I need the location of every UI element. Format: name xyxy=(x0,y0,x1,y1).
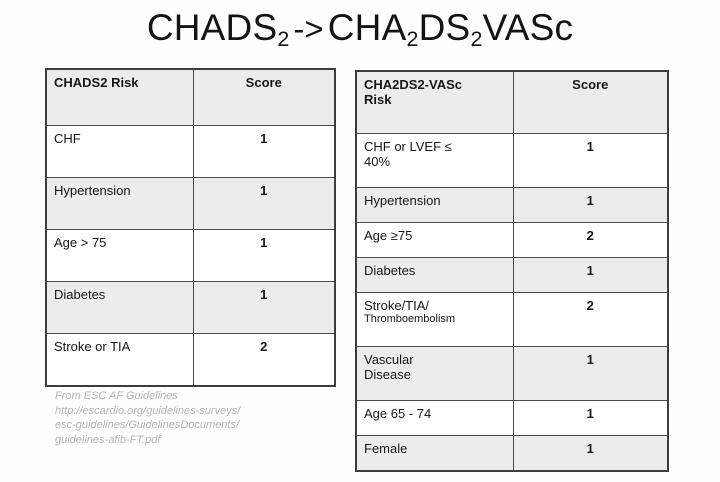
risk-score: 2 xyxy=(513,223,668,258)
page-title: CHADS2->CHA2DS2VASc xyxy=(0,4,720,53)
citation-line-3: esc-guidelines/GuidelinesDocuments/ xyxy=(55,418,315,433)
risk-label-line1: Stroke/TIA/ xyxy=(364,298,506,313)
risk-label: Diabetes xyxy=(46,282,193,334)
cha2ds2-vasc-risk-table: CHA2DS2-VASc Risk Score CHF or LVEF ≤ 40… xyxy=(355,70,669,472)
risk-label-line2: 40% xyxy=(364,154,506,169)
risk-label: Age > 75 xyxy=(46,230,193,282)
table-row: CHF or LVEF ≤ 40% 1 xyxy=(356,134,668,188)
title-arrow: -> xyxy=(290,11,328,47)
table-header-row: CHADS2 Risk Score xyxy=(46,69,335,126)
risk-label: Hypertension xyxy=(356,188,513,223)
table-row: CHF 1 xyxy=(46,126,335,178)
risk-label: Hypertension xyxy=(46,178,193,230)
risk-score: 1 xyxy=(513,188,668,223)
risk-score: 1 xyxy=(513,258,668,293)
risk-label: Age 65 - 74 xyxy=(356,401,513,436)
table-row: Vascular Disease 1 xyxy=(356,347,668,401)
table-row: Hypertension 1 xyxy=(46,178,335,230)
title-ds-subscript: 2 xyxy=(470,27,482,51)
table-row: Diabetes 1 xyxy=(46,282,335,334)
risk-score: 1 xyxy=(513,347,668,401)
risk-score: 1 xyxy=(193,230,335,282)
chads2-risk-table: CHADS2 Risk Score CHF 1 Hypertension 1 A… xyxy=(45,68,336,387)
title-cha-subscript: 2 xyxy=(406,27,418,51)
title-chads-subscript: 2 xyxy=(277,27,289,51)
title-vasc-text: VASc xyxy=(483,7,574,48)
citation-line-4: guidelines-afib-FT.pdf xyxy=(55,433,315,448)
risk-label: Stroke or TIA xyxy=(46,334,193,387)
citation-line-1: From ESC AF Guidelines xyxy=(55,389,315,404)
risk-score: 1 xyxy=(513,436,668,472)
title-cha-text: CHA xyxy=(328,7,407,48)
risk-label: Vascular Disease xyxy=(356,347,513,401)
table-row: Stroke/TIA/ Thromboembolism 2 xyxy=(356,293,668,347)
title-ds-text: DS xyxy=(419,7,471,48)
risk-score: 2 xyxy=(193,334,335,387)
risk-label: Female xyxy=(356,436,513,472)
column-header-score: Score xyxy=(513,71,668,134)
risk-label: Age ≥75 xyxy=(356,223,513,258)
table-header-row: CHA2DS2-VASc Risk Score xyxy=(356,71,668,134)
risk-label: CHF or LVEF ≤ 40% xyxy=(356,134,513,188)
slide-canvas: CHADS2->CHA2DS2VASc CHADS2 Risk Score CH… xyxy=(0,0,720,482)
risk-score: 2 xyxy=(513,293,668,347)
column-header-risk-line2: Risk xyxy=(364,92,506,107)
table-row: Age 65 - 74 1 xyxy=(356,401,668,436)
risk-label: CHF xyxy=(46,126,193,178)
table-row: Female 1 xyxy=(356,436,668,472)
table-row: Age > 75 1 xyxy=(46,230,335,282)
risk-score: 1 xyxy=(193,282,335,334)
risk-label-line2: Disease xyxy=(364,367,506,382)
table-row: Diabetes 1 xyxy=(356,258,668,293)
risk-score: 1 xyxy=(513,401,668,436)
risk-label: Stroke/TIA/ Thromboembolism xyxy=(356,293,513,347)
column-header-score: Score xyxy=(193,69,335,126)
table-row: Stroke or TIA 2 xyxy=(46,334,335,387)
column-header-risk: CHADS2 Risk xyxy=(46,69,193,126)
column-header-risk-line1: CHA2DS2-VASc xyxy=(364,77,506,92)
citation-line-2: http://escardio.org/guidelines-surveys/ xyxy=(55,404,315,419)
risk-label-line1: CHF or LVEF ≤ xyxy=(364,139,506,154)
title-chads-text: CHADS xyxy=(147,7,278,48)
risk-score: 1 xyxy=(193,178,335,230)
table-row: Hypertension 1 xyxy=(356,188,668,223)
risk-label: Diabetes xyxy=(356,258,513,293)
column-header-risk: CHA2DS2-VASc Risk xyxy=(356,71,513,134)
risk-score: 1 xyxy=(193,126,335,178)
table-row: Age ≥75 2 xyxy=(356,223,668,258)
risk-label-line2: Thromboembolism xyxy=(364,313,506,326)
risk-score: 1 xyxy=(513,134,668,188)
risk-label-line1: Vascular xyxy=(364,352,506,367)
source-citation: From ESC AF Guidelines http://escardio.o… xyxy=(55,389,315,447)
